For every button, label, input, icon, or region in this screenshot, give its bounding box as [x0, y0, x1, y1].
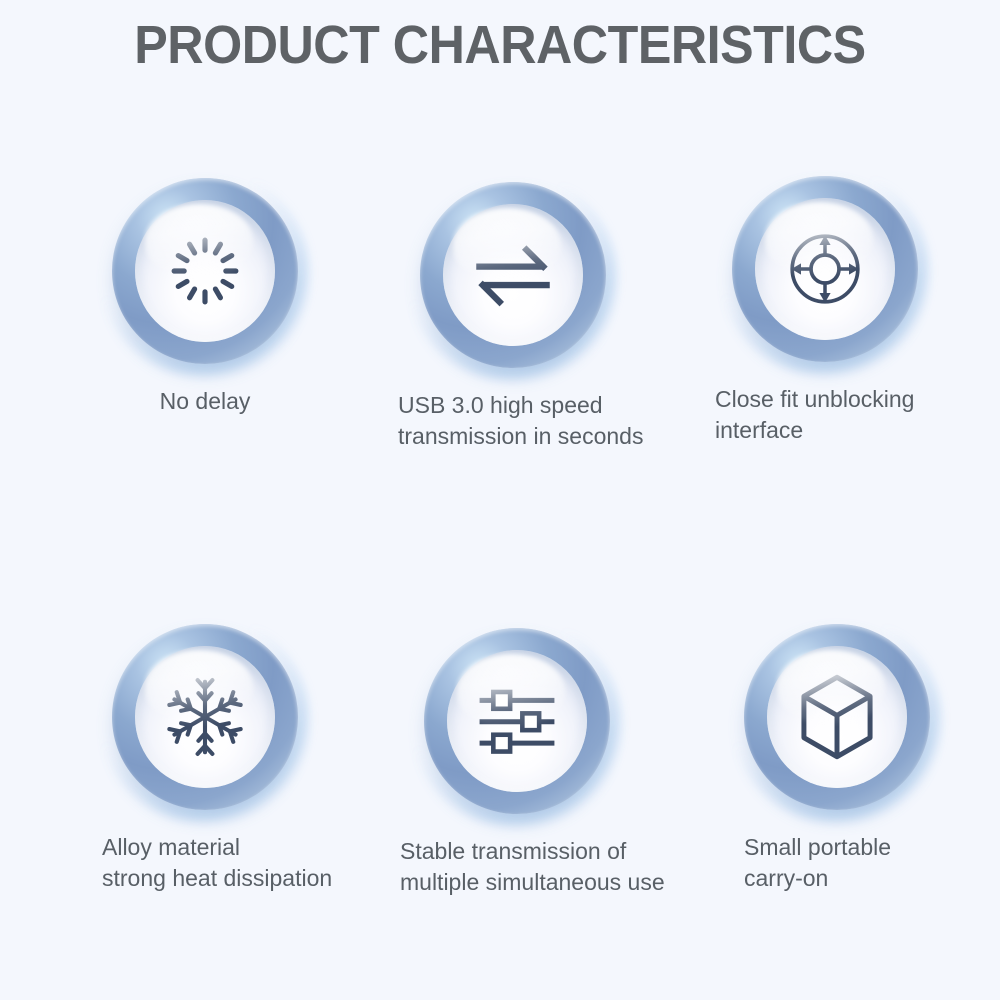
- transfer-arrows-icon: [420, 182, 606, 368]
- feature-no-delay: No delay: [40, 178, 370, 417]
- snowflake-icon: [112, 624, 298, 810]
- feature-badge-no-delay[interactable]: [112, 178, 298, 364]
- feature-caption-stable-transmission-multiple-use: Stable transmission of multiple simultan…: [352, 836, 682, 897]
- feature-badge-alloy-material-heat-dissipation[interactable]: [112, 624, 298, 810]
- feature-badge-usb-3-high-speed[interactable]: [420, 182, 606, 368]
- feature-usb-3-high-speed: USB 3.0 high speed transmission in secon…: [348, 182, 678, 451]
- feature-badge-close-fit-unblocking-interface[interactable]: [732, 176, 918, 362]
- feature-caption-small-portable-carry-on: Small portable carry-on: [672, 832, 1000, 893]
- cube-3d-icon: [744, 624, 930, 810]
- feature-badge-small-portable-carry-on[interactable]: [744, 624, 930, 810]
- feature-alloy-material-heat-dissipation: Alloy material strong heat dissipation: [40, 624, 370, 893]
- feature-caption-usb-3-high-speed: USB 3.0 high speed transmission in secon…: [348, 390, 678, 451]
- sliders-icon: [424, 628, 610, 814]
- feature-small-portable-carry-on: Small portable carry-on: [672, 624, 1000, 893]
- feature-caption-close-fit-unblocking-interface: Close fit unblocking interface: [660, 384, 990, 445]
- four-way-expand-icon: [732, 176, 918, 362]
- feature-caption-no-delay: No delay: [40, 386, 370, 417]
- feature-caption-alloy-material-heat-dissipation: Alloy material strong heat dissipation: [40, 832, 370, 893]
- loading-spinner-icon: [112, 178, 298, 364]
- feature-grid: No delay USB 3.0 high speed transmission…: [0, 0, 1000, 1000]
- feature-badge-stable-transmission-multiple-use[interactable]: [424, 628, 610, 814]
- feature-stable-transmission-multiple-use: Stable transmission of multiple simultan…: [352, 628, 682, 897]
- feature-close-fit-unblocking-interface: Close fit unblocking interface: [660, 176, 990, 445]
